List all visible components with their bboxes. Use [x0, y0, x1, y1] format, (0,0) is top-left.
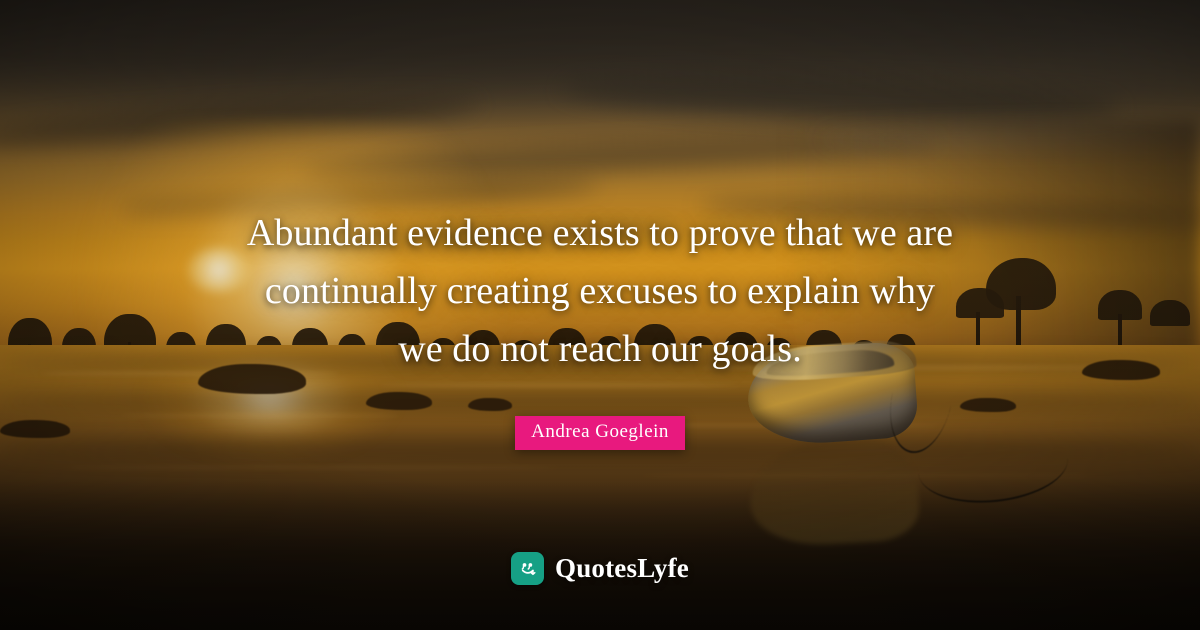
quote-line: continually creating excuses to explain …: [100, 262, 1100, 320]
brand-watermark[interactable]: QuotesLyfe: [0, 552, 1200, 585]
author-name-badge: Andrea Goeglein: [515, 416, 685, 450]
quote-line: Abundant evidence exists to prove that w…: [100, 204, 1100, 262]
brand-name: QuotesLyfe: [555, 553, 689, 584]
quote-smiley-icon: [511, 552, 544, 585]
quote-text: Abundant evidence exists to prove that w…: [100, 204, 1100, 378]
overlay-content: Abundant evidence exists to prove that w…: [0, 0, 1200, 630]
quote-image-card: Abundant evidence exists to prove that w…: [0, 0, 1200, 630]
quote-line: we do not reach our goals.: [100, 320, 1100, 378]
author-attribution: Andrea Goeglein: [0, 416, 1200, 450]
